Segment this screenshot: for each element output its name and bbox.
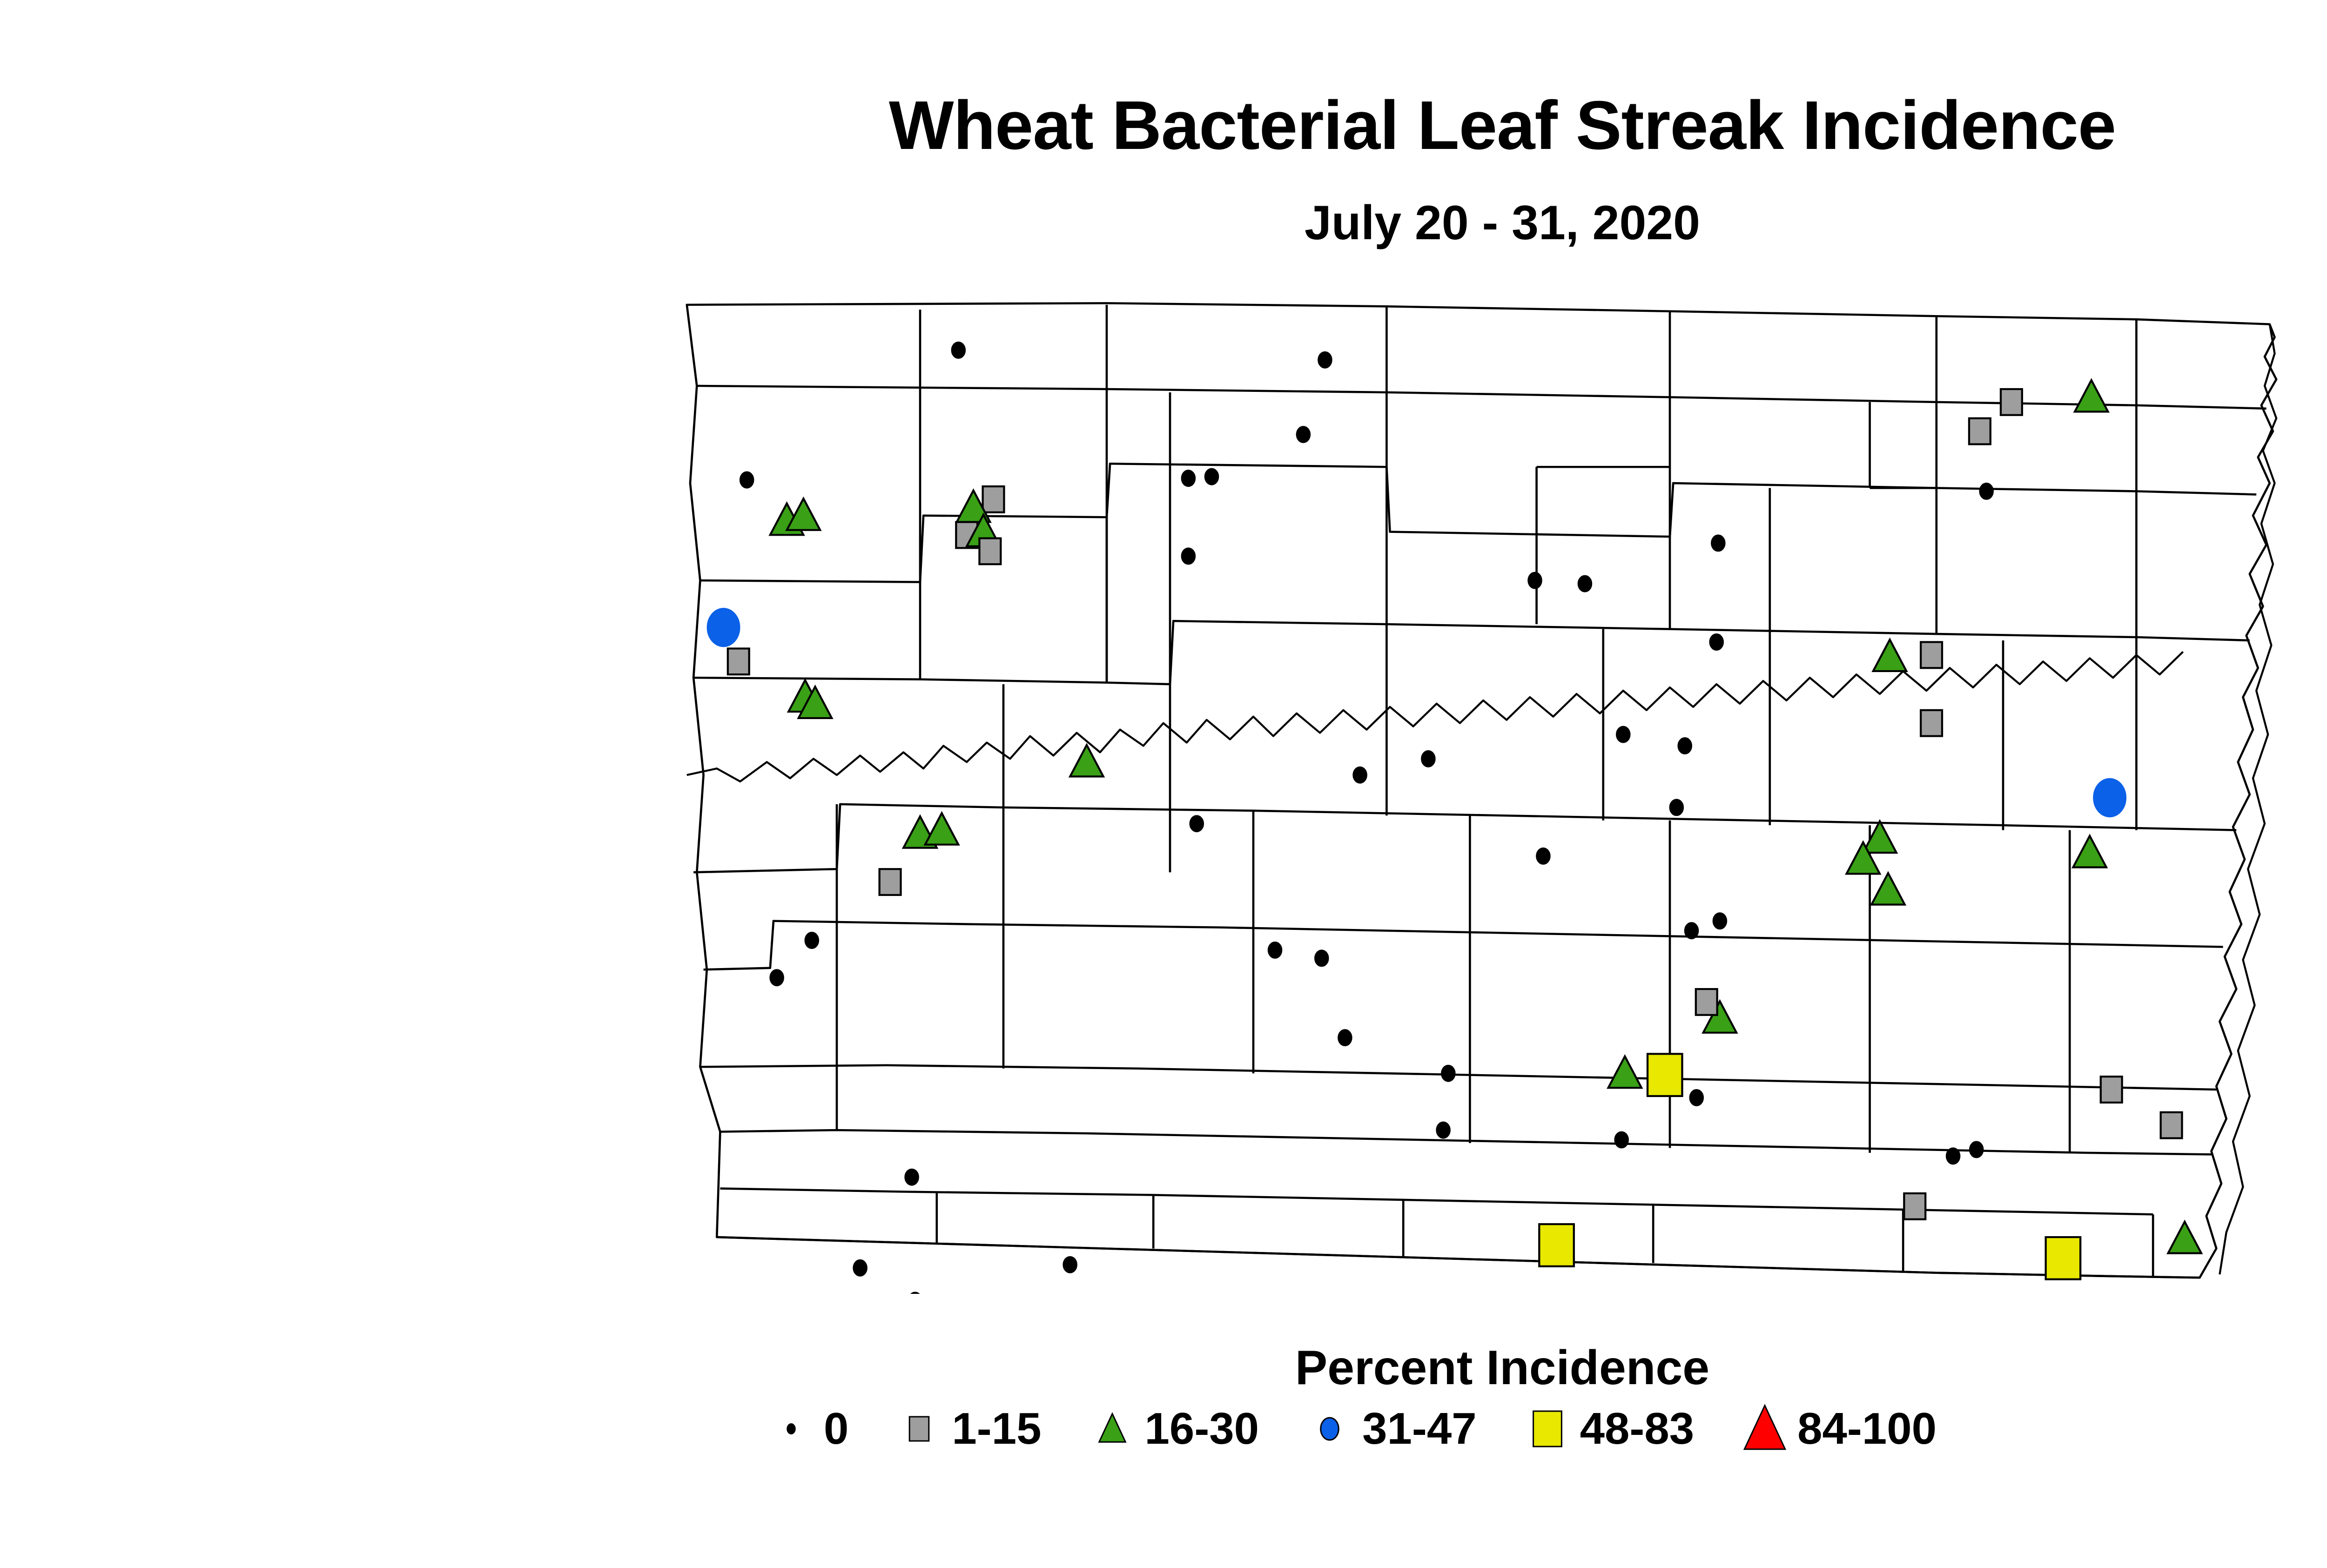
county-boundaries bbox=[687, 303, 2276, 1278]
map-marker bbox=[1268, 942, 1282, 958]
map-marker bbox=[983, 486, 1004, 512]
map-marker bbox=[1353, 767, 1366, 783]
map-marker bbox=[1711, 535, 1725, 552]
legend-item: 16-30 bbox=[1084, 1401, 1259, 1457]
map-marker bbox=[770, 969, 783, 986]
map-marker bbox=[1182, 548, 1195, 564]
map-marker bbox=[2101, 1077, 2122, 1103]
map-marker bbox=[1969, 418, 1991, 444]
map-marker bbox=[1616, 727, 1630, 743]
map-marker bbox=[1670, 799, 1683, 815]
map-marker bbox=[1685, 922, 1698, 939]
map-marker bbox=[1696, 989, 1717, 1015]
legend-item: 31-47 bbox=[1302, 1401, 1477, 1457]
map-marker bbox=[2046, 1237, 2080, 1279]
legend-item: 48-83 bbox=[1520, 1401, 1695, 1457]
map-marker bbox=[1921, 642, 1942, 668]
legend-circle-icon bbox=[1302, 1401, 1358, 1457]
map-marker bbox=[2094, 779, 2125, 816]
map-marker bbox=[1421, 751, 1435, 767]
legend-item-label: 84-100 bbox=[1797, 1403, 1937, 1454]
legend-title: Percent Incidence bbox=[0, 1340, 2327, 1396]
map-marker bbox=[880, 869, 901, 895]
map-marker bbox=[1205, 469, 1218, 485]
map-marker bbox=[1970, 1142, 1983, 1158]
legend-circle-icon bbox=[763, 1401, 819, 1457]
legend-item-label: 48-83 bbox=[1580, 1403, 1695, 1454]
map-marker bbox=[728, 648, 749, 674]
map-marker bbox=[1436, 1122, 1450, 1138]
legend-item: 0 bbox=[763, 1401, 848, 1457]
map-marker bbox=[1921, 710, 1942, 736]
legend-item-label: 1-15 bbox=[952, 1403, 1041, 1454]
map-marker bbox=[2161, 1112, 2182, 1138]
map-marker bbox=[1315, 950, 1328, 966]
map-marker bbox=[853, 1260, 867, 1276]
legend-item: 1-15 bbox=[891, 1401, 1041, 1457]
north-dakota-map bbox=[670, 289, 2327, 1294]
figure-canvas: Wheat Bacterial Leaf Streak Incidence Ju… bbox=[0, 0, 2327, 1568]
map-marker bbox=[805, 932, 819, 949]
map-marker bbox=[1528, 572, 1541, 589]
legend-item: 84-100 bbox=[1737, 1401, 1937, 1457]
legend-item-label: 0 bbox=[824, 1403, 848, 1454]
map-marker bbox=[1063, 1257, 1077, 1273]
map-marker bbox=[1710, 634, 1723, 650]
map-marker bbox=[740, 472, 753, 488]
map-marker bbox=[905, 1169, 918, 1185]
map-marker bbox=[979, 538, 1001, 565]
map-marker bbox=[1318, 352, 1332, 368]
legend-square-icon bbox=[891, 1401, 947, 1457]
map-marker bbox=[1690, 1090, 1703, 1106]
map-marker bbox=[1713, 913, 1727, 929]
map-marker bbox=[1648, 1054, 1682, 1096]
legend-triangle-icon bbox=[1084, 1401, 1140, 1457]
legend-item-label: 16-30 bbox=[1145, 1403, 1259, 1454]
legend-item-label: 31-47 bbox=[1362, 1403, 1477, 1454]
map-marker bbox=[1297, 426, 1310, 443]
map-marker bbox=[1441, 1065, 1455, 1082]
map-marker bbox=[708, 609, 740, 646]
map-marker bbox=[2001, 389, 2022, 415]
map-marker bbox=[1946, 1148, 1960, 1164]
map-marker bbox=[1980, 483, 1993, 499]
map-marker bbox=[1615, 1132, 1628, 1148]
map-marker bbox=[952, 342, 965, 358]
map-marker bbox=[1904, 1193, 1925, 1219]
map-marker bbox=[1536, 848, 1550, 864]
map-marker bbox=[908, 1292, 922, 1294]
map-marker bbox=[1190, 815, 1204, 832]
legend: 01-1516-3031-4748-8384-100 bbox=[763, 1396, 2253, 1461]
map-marker bbox=[1678, 738, 1692, 754]
map-marker bbox=[1539, 1224, 1574, 1266]
legend-square-icon bbox=[1520, 1401, 1575, 1457]
map-marker bbox=[1578, 576, 1592, 592]
map-marker bbox=[1182, 470, 1195, 486]
page-subtitle: July 20 - 31, 2020 bbox=[0, 195, 2327, 251]
legend-triangle-icon bbox=[1737, 1401, 1793, 1457]
page-title: Wheat Bacterial Leaf Streak Incidence bbox=[0, 86, 2327, 165]
map-marker bbox=[1338, 1030, 1352, 1046]
